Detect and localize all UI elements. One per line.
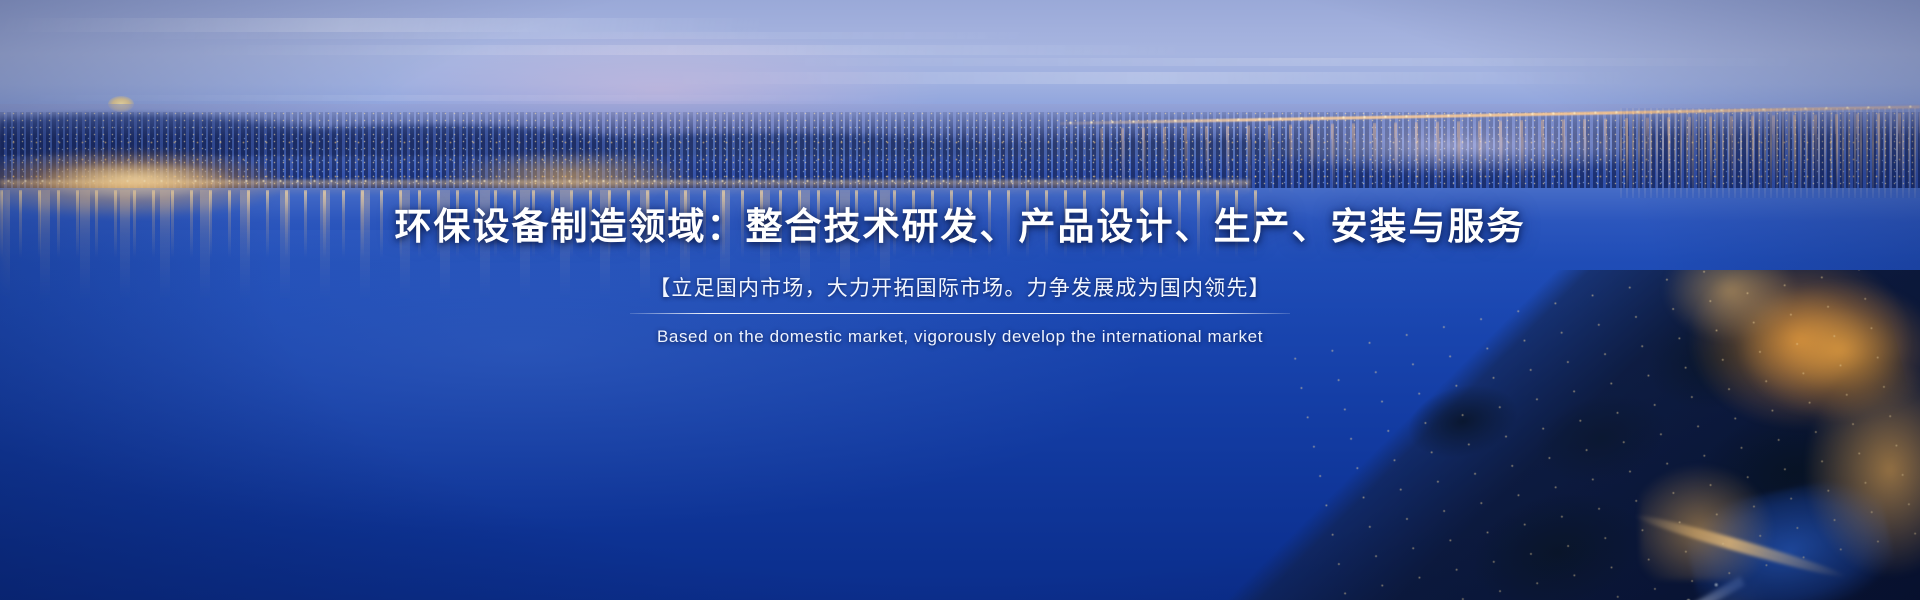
photo-vignette (0, 0, 1920, 600)
hero-banner: 环保设备制造领域：整合技术研发、产品设计、生产、安装与服务 【立足国内市场，大力… (0, 0, 1920, 600)
